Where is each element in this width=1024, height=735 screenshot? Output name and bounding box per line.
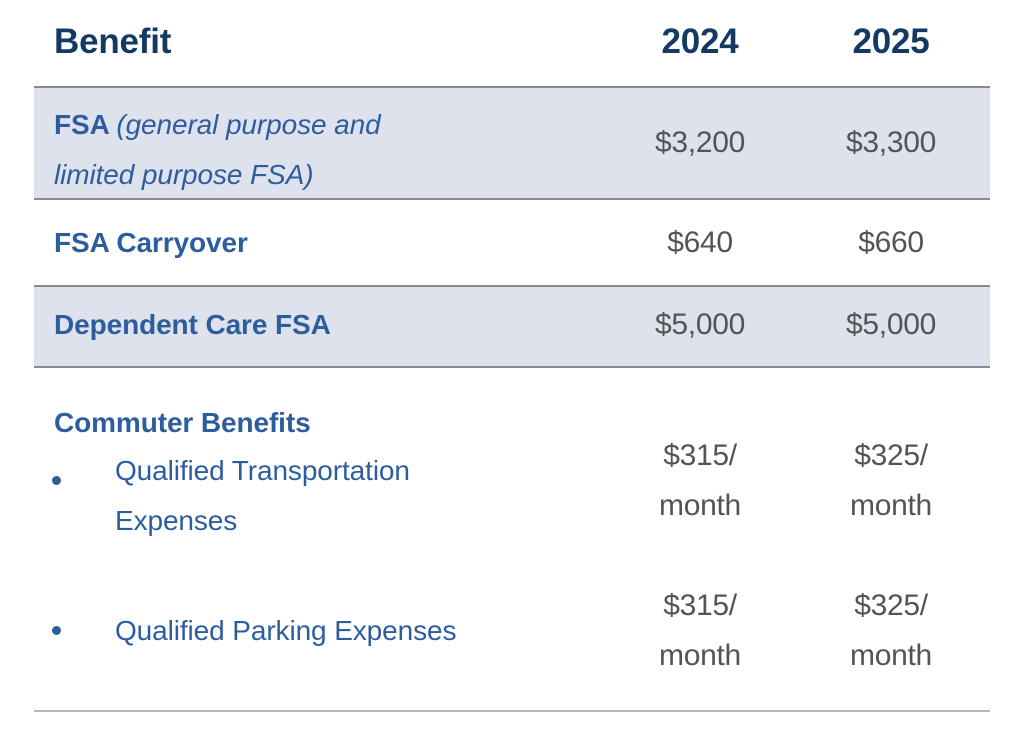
list-item-label-line1: Qualified Transportation <box>115 446 585 496</box>
cell-qualified-parking-expenses-2025: $325/ month <box>792 581 990 681</box>
bullet-icon <box>52 476 61 485</box>
amount: $325/ <box>854 439 928 472</box>
table-header-row: Benefit 2024 2025 <box>34 22 990 82</box>
row-label-commuter-benefits: Commuter Benefits <box>54 398 614 448</box>
cell-fsa-carryover-2025: $660 <box>792 218 990 268</box>
bullet-icon <box>52 626 61 635</box>
row-label-dependent-care-fsa: Dependent Care FSA <box>54 300 614 350</box>
cell-fsa-2025: $3,300 <box>792 118 990 168</box>
column-header-benefit: Benefit <box>54 22 614 62</box>
divider-bottom <box>34 710 990 712</box>
cell-qualified-transportation-expenses-2025: $325/ month <box>792 431 990 531</box>
cell-dependent-care-fsa-2024: $5,000 <box>600 300 800 350</box>
cell-fsa-2024: $3,200 <box>600 118 800 168</box>
amount: $325/ <box>854 589 928 622</box>
unit: month <box>792 631 990 681</box>
amount: $315/ <box>663 439 737 472</box>
amount: $315/ <box>663 589 737 622</box>
list-item-label-qualified-transportation-expenses: Qualified Transportation Expenses <box>115 446 585 546</box>
table-row-fsa-carryover: FSA Carryover $640 $660 <box>34 200 990 285</box>
table-row-dependent-care-fsa: Dependent Care FSA $5,000 $5,000 <box>34 287 990 366</box>
list-item-label-line2: Expenses <box>115 496 585 546</box>
benefits-table: Benefit 2024 2025 FSA (general purpose a… <box>34 0 990 735</box>
row-label-fsa-italic-line1: (general purpose and <box>116 109 380 140</box>
column-header-2025: 2025 <box>792 22 990 62</box>
unit: month <box>792 481 990 531</box>
row-label-fsa: FSA (general purpose and limited purpose… <box>54 100 614 200</box>
unit: month <box>600 631 800 681</box>
unit: month <box>600 481 800 531</box>
cell-qualified-transportation-expenses-2024: $315/ month <box>600 431 800 531</box>
benefit-limits-table-page: Benefit 2024 2025 FSA (general purpose a… <box>0 0 1024 735</box>
cell-qualified-parking-expenses-2024: $315/ month <box>600 581 800 681</box>
table-row-commuter-benefits: Commuter Benefits Qualified Transportati… <box>34 368 990 710</box>
list-item-label-qualified-parking-expenses: Qualified Parking Expenses <box>115 606 585 656</box>
row-label-fsa-carryover: FSA Carryover <box>54 218 614 268</box>
row-label-fsa-italic-line2: limited purpose FSA) <box>54 150 614 200</box>
column-header-2024: 2024 <box>600 22 800 62</box>
table-row-fsa: FSA (general purpose and limited purpose… <box>34 88 990 198</box>
row-label-fsa-bold: FSA <box>54 109 116 140</box>
cell-fsa-carryover-2024: $640 <box>600 218 800 268</box>
cell-dependent-care-fsa-2025: $5,000 <box>792 300 990 350</box>
